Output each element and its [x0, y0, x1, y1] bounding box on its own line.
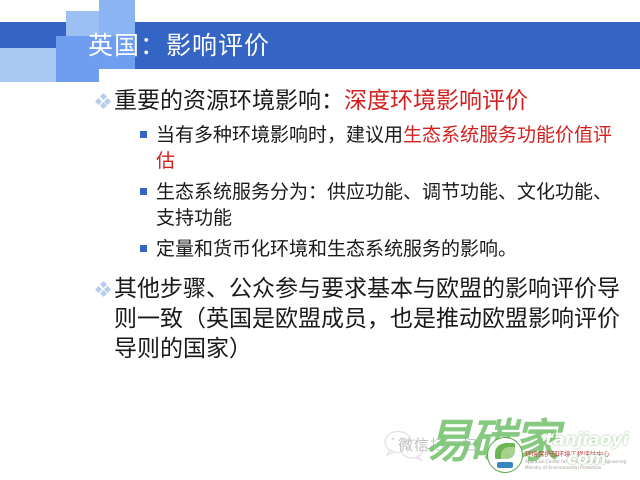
eco-logo-icon	[487, 437, 523, 473]
bullet-text-plain: 重要的资源环境影响：	[114, 88, 344, 114]
bullet-text: 当有多种环境影响时，建议用生态系统服务功能价值评估	[156, 122, 616, 174]
watermark-url: tanjiaoyi com	[545, 432, 628, 468]
square-bullet-icon	[140, 245, 147, 252]
bullet-text-plain: 当有多种环境影响时，建议用	[156, 124, 403, 146]
deco-block-1	[0, 48, 56, 82]
square-bullet-icon	[140, 131, 147, 138]
bullet-level1: 其他步骤、公众参与要求基本与欧盟的影响评价导则一致（英国是欧盟成员，也是推动欧盟…	[96, 274, 640, 364]
bullet-text: 其他步骤、公众参与要求基本与欧盟的影响评价导则一致（英国是欧盟成员，也是推动欧盟…	[114, 274, 622, 364]
bullet-level2: 当有多种环境影响时，建议用生态系统服务功能价值评估	[140, 122, 640, 174]
bullet-text: 生态系统服务分为：供应功能、调节功能、文化功能、支持功能	[156, 179, 616, 231]
slide-canvas: 英国：影响评价 重要的资源环境影响：深度环境影响评价 当有多种环境影响时，建议用…	[0, 0, 640, 480]
square-bullet-icon	[140, 188, 147, 195]
slide-title: 英国：影响评价	[88, 26, 270, 66]
bullet-text: 定量和货币化环境和生态系统服务的影响。	[156, 236, 616, 262]
bullet-level1: 重要的资源环境影响：深度环境影响评价	[96, 86, 640, 116]
diamond-bullet-icon	[96, 282, 110, 296]
bullet-level2: 定量和货币化环境和生态系统服务的影响。	[140, 236, 640, 262]
bullet-level2: 生态系统服务分为：供应功能、调节功能、文化功能、支持功能	[140, 179, 640, 231]
slide-body: 重要的资源环境影响：深度环境影响评价 当有多种环境影响时，建议用生态系统服务功能…	[0, 86, 640, 386]
watermark-url-site: tanjiaoyi	[545, 430, 628, 450]
diamond-bullet-icon	[96, 94, 110, 108]
bullet-text: 重要的资源环境影响：深度环境影响评价	[114, 86, 622, 116]
watermark-url-domain: com	[567, 451, 628, 468]
bullet-text-highlight: 深度环境影响评价	[344, 88, 528, 114]
